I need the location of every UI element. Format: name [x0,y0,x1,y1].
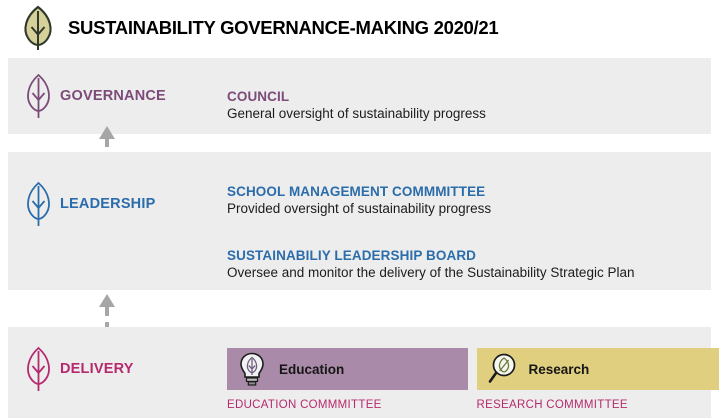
block-title: SCHOOL MANAGEMENT COMMMITTEE [227,184,491,199]
leaf-icon [22,180,55,227]
delivery-cards: Education EDUCATION COMMMITTEE Research … [227,348,719,411]
research-card-body[interactable]: Research [477,348,719,390]
block-description: General oversight of sustainability prog… [227,106,486,121]
education-card-body[interactable]: Education [227,348,468,390]
page-header: SUSTAINABILITY GOVERNANCE-MAKING 2020/21 [0,0,719,55]
lightbulb-leaf-icon [237,352,267,386]
block-title: COUNCIL [227,89,486,104]
delivery-card-research[interactable]: Research RESEARCH COMMMITTEE [477,348,719,411]
section-governance: GOVERNANCE COUNCIL General oversight of … [8,58,711,134]
section-leadership: LEADERSHIP SCHOOL MANAGEMENT COMMMITTEE … [8,152,711,290]
section-label-text: GOVERNANCE [60,88,166,104]
card-label: Research [529,362,590,377]
section-label-text: LEADERSHIP [60,196,155,212]
leaf-icon [18,5,58,51]
section-label-governance: GOVERNANCE [22,72,166,119]
block-sustainability-leadership-board: SUSTAINABILIY LEADERSHIP BOARD Oversee a… [227,248,634,280]
card-caption: EDUCATION COMMMITTEE [227,399,468,411]
leaf-icon [22,72,55,119]
section-label-delivery: DELIVERY [22,345,134,392]
delivery-card-education[interactable]: Education EDUCATION COMMMITTEE [227,348,468,411]
block-school-management-committee: SCHOOL MANAGEMENT COMMMITTEE Provided ov… [227,184,491,216]
section-delivery: DELIVERY Education EDUCATION COMMMITTEE [8,327,711,418]
leaf-icon [22,345,55,392]
magnifier-leaf-icon [487,352,517,386]
page-title: SUSTAINABILITY GOVERNANCE-MAKING 2020/21 [68,17,498,39]
section-label-leadership: LEADERSHIP [22,180,155,227]
block-council: COUNCIL General oversight of sustainabil… [227,89,486,121]
card-label: Education [279,362,344,377]
card-caption: RESEARCH COMMMITTEE [477,399,719,411]
section-label-text: DELIVERY [60,361,134,377]
block-description: Provided oversight of sustainability pro… [227,201,491,216]
block-title: SUSTAINABILIY LEADERSHIP BOARD [227,248,634,263]
block-description: Oversee and monitor the delivery of the … [227,265,634,280]
